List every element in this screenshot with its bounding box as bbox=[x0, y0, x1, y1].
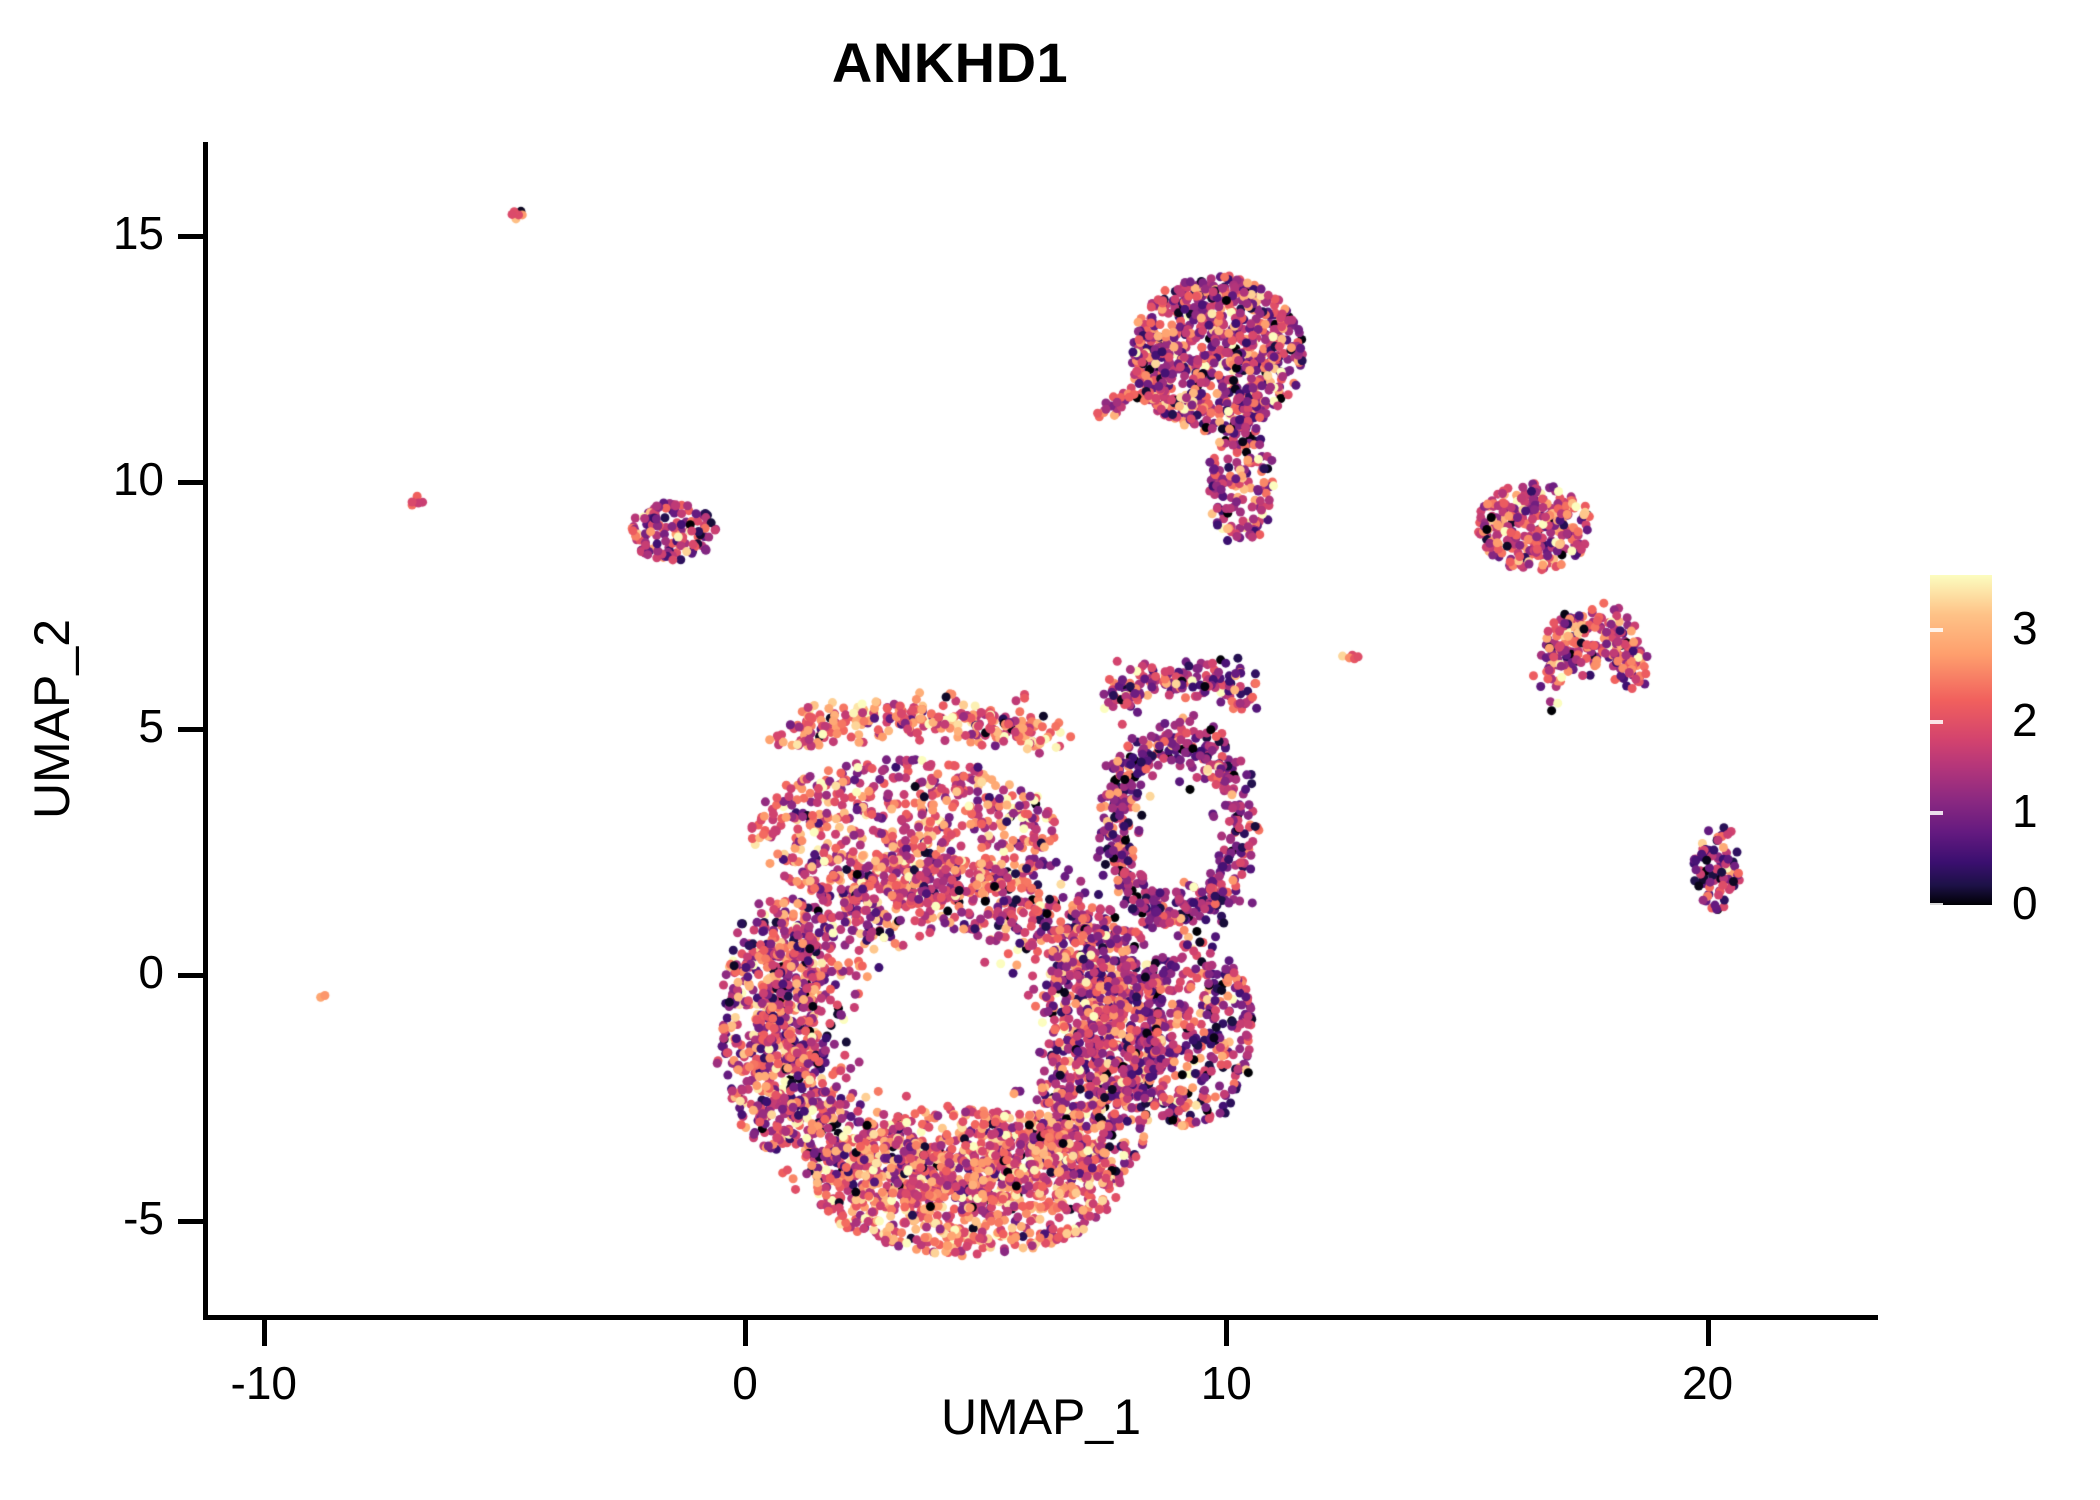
colorbar-tick-mark bbox=[1930, 811, 1943, 815]
x-tick-mark bbox=[743, 1320, 748, 1346]
y-tick-label: 5 bbox=[0, 699, 164, 753]
colorbar-tick-mark bbox=[1930, 720, 1943, 724]
x-tick-mark bbox=[262, 1320, 267, 1346]
colorbar-tick-label: 2 bbox=[2012, 693, 2100, 747]
colorbar-legend: 3210 bbox=[1930, 575, 2090, 915]
scatter-points-layer bbox=[206, 142, 1876, 1315]
x-tick-mark bbox=[1706, 1320, 1711, 1346]
x-tick-label: -10 bbox=[164, 1356, 364, 1410]
y-tick-mark bbox=[178, 234, 204, 239]
colorbar-tick-mark bbox=[1930, 628, 1943, 632]
x-tick-mark bbox=[1224, 1320, 1229, 1346]
y-tick-label: 10 bbox=[0, 452, 164, 506]
colorbar-tick-label: 3 bbox=[2012, 601, 2100, 655]
x-axis-line bbox=[203, 1315, 1878, 1320]
y-tick-label: -5 bbox=[0, 1191, 164, 1245]
y-tick-mark bbox=[178, 727, 204, 732]
page-title: ANKHD1 bbox=[0, 30, 1900, 95]
y-tick-mark bbox=[178, 1219, 204, 1224]
colorbar-tick-mark bbox=[1930, 903, 1943, 907]
colorbar-tick-label: 0 bbox=[2012, 876, 2100, 930]
umap-feature-plot: ANKHD1 UMAP_2 UMAP_1 151050-5 -1001020 3… bbox=[0, 0, 2100, 1500]
y-tick-mark bbox=[178, 973, 204, 978]
x-tick-label: 10 bbox=[1126, 1356, 1326, 1410]
x-tick-label: 0 bbox=[645, 1356, 845, 1410]
colorbar-tick-label: 1 bbox=[2012, 784, 2100, 838]
colorbar-gradient bbox=[1930, 575, 1992, 905]
y-tick-mark bbox=[178, 480, 204, 485]
x-tick-label: 20 bbox=[1608, 1356, 1808, 1410]
y-tick-label: 0 bbox=[0, 945, 164, 999]
plot-panel bbox=[206, 142, 1876, 1315]
y-tick-label: 15 bbox=[0, 206, 164, 260]
